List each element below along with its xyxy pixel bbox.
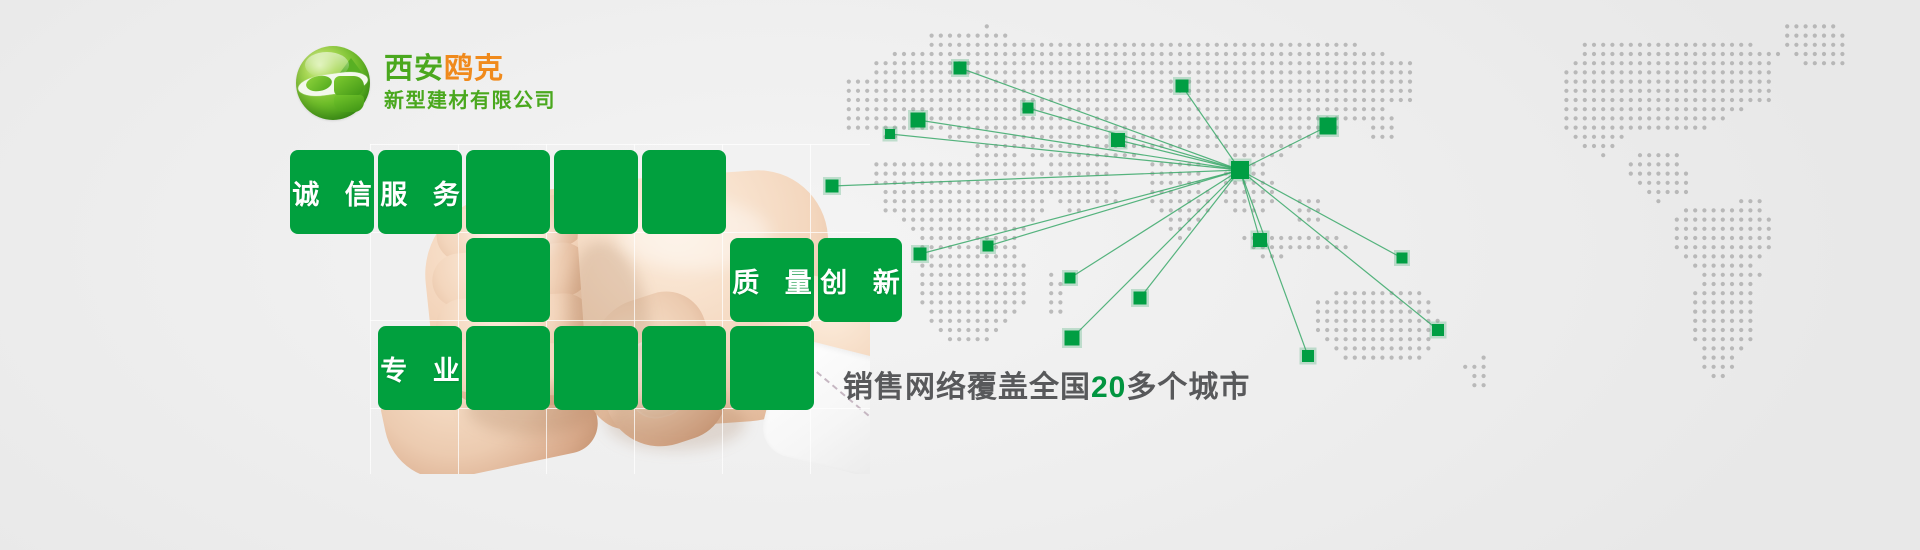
map-dot (1012, 61, 1016, 65)
map-dot (1160, 135, 1164, 139)
map-dot (948, 273, 952, 277)
map-dot (1380, 89, 1384, 93)
map-dot (1721, 300, 1725, 304)
node-square (954, 62, 967, 75)
map-dot (1638, 107, 1642, 111)
map-dot (1638, 172, 1642, 176)
map-dot (1353, 80, 1357, 84)
map-dot (1040, 43, 1044, 47)
map-dot (1215, 126, 1219, 130)
map-dot (1702, 227, 1706, 231)
map-dot (976, 227, 980, 231)
map-dot (1758, 236, 1762, 240)
map-dot (948, 52, 952, 56)
map-dot (1298, 70, 1302, 74)
map-dot (1003, 291, 1007, 295)
logo-text-block: 西安鸥克 新型建材有限公司 (384, 54, 556, 112)
map-dot (1068, 61, 1072, 65)
map-dot (902, 98, 906, 102)
map-dot (1334, 107, 1338, 111)
map-dot (1721, 245, 1725, 249)
map-dot (1270, 245, 1274, 249)
map-dot (1242, 80, 1246, 84)
map-dot (1316, 310, 1320, 314)
company-name-line2: 新型建材有限公司 (384, 90, 556, 112)
map-dot (1629, 98, 1633, 102)
map-dot (1270, 181, 1274, 185)
map-dot (1629, 89, 1633, 93)
map-dot (1767, 80, 1771, 84)
map-dot (1408, 89, 1412, 93)
map-dot (1739, 310, 1743, 314)
map-dot (1160, 70, 1164, 74)
map-dot (1362, 356, 1366, 360)
map-dot (1629, 80, 1633, 84)
map-dot (1656, 126, 1660, 130)
map-dot (1141, 43, 1145, 47)
map-dot (1123, 153, 1127, 157)
map-dot (1031, 43, 1035, 47)
map-dot (1086, 89, 1090, 93)
map-dot (1031, 61, 1035, 65)
map-dot (884, 199, 888, 203)
map-dot (874, 116, 878, 120)
mosaic-tile-blank (466, 238, 550, 322)
map-dot (1178, 52, 1182, 56)
map-dot (1362, 116, 1366, 120)
map-dot (994, 310, 998, 314)
map-dot (884, 116, 888, 120)
map-dot (1196, 52, 1200, 56)
map-dot (1684, 89, 1688, 93)
map-dot (1785, 34, 1789, 38)
map-dot (1068, 70, 1072, 74)
map-dot (1012, 153, 1016, 157)
map-dot (1739, 254, 1743, 258)
map-dot (1610, 70, 1614, 74)
map-dot (1307, 52, 1311, 56)
map-dot (1307, 245, 1311, 249)
map-dot (920, 282, 924, 286)
map-dot (976, 190, 980, 194)
map-dot (1261, 61, 1265, 65)
map-dot (1353, 61, 1357, 65)
map-dot (1160, 208, 1164, 212)
map-dot (1307, 236, 1311, 240)
map-dot (1077, 199, 1081, 203)
map-dot (1150, 61, 1154, 65)
map-dot (1656, 89, 1660, 93)
map-dot (856, 116, 860, 120)
map-dot (976, 319, 980, 323)
map-dot (884, 61, 888, 65)
map-dot (930, 319, 934, 323)
map-dot (1279, 43, 1283, 47)
map-dot (1224, 80, 1228, 84)
map-dot (939, 43, 943, 47)
map-dot (1344, 310, 1348, 314)
map-dot (1794, 24, 1798, 28)
map-dot (930, 273, 934, 277)
map-dot (1123, 61, 1127, 65)
map-dot (1298, 245, 1302, 249)
map-dot (865, 80, 869, 84)
map-dot (874, 126, 878, 130)
map-dot (966, 52, 970, 56)
map-dot (1739, 199, 1743, 203)
map-dot (1058, 126, 1062, 130)
map-dot (1592, 61, 1596, 65)
map-dot (1316, 98, 1320, 102)
map-dot (939, 300, 943, 304)
map-dot (1279, 70, 1283, 74)
map-dot (1592, 107, 1596, 111)
map-dot (1344, 61, 1348, 65)
map-dot (1288, 126, 1292, 130)
map-dot (1721, 328, 1725, 332)
map-dot (1656, 181, 1660, 185)
map-dot (1426, 300, 1430, 304)
map-dot (976, 245, 980, 249)
map-dot (957, 264, 961, 268)
map-dot (1399, 89, 1403, 93)
map-dot (1822, 24, 1826, 28)
map-dot (1178, 135, 1182, 139)
map-dot (1003, 80, 1007, 84)
city-node (1020, 100, 1036, 116)
map-dot (1049, 153, 1053, 157)
map-dot (1104, 162, 1108, 166)
map-dot (1123, 89, 1127, 93)
map-dot (1702, 107, 1706, 111)
map-dot (1399, 319, 1403, 323)
map-dot (1583, 116, 1587, 120)
map-dot (1003, 300, 1007, 304)
map-dot (1012, 199, 1016, 203)
map-dot (1114, 190, 1118, 194)
map-dot (1215, 43, 1219, 47)
map-dot (1399, 337, 1403, 341)
map-dot (1426, 346, 1430, 350)
map-dot (1160, 89, 1164, 93)
map-dot (1702, 245, 1706, 249)
map-dot (948, 282, 952, 286)
map-dot (1132, 80, 1136, 84)
map-dot (994, 162, 998, 166)
map-dot (1647, 52, 1651, 56)
map-dot (1261, 80, 1265, 84)
map-dot (1721, 356, 1725, 360)
map-dot (1012, 264, 1016, 268)
map-dot (1068, 153, 1072, 157)
map-dot (1086, 52, 1090, 56)
map-dot (1647, 126, 1651, 130)
map-dot (1390, 310, 1394, 314)
map-dot (1813, 34, 1817, 38)
map-dot (957, 52, 961, 56)
map-dot (948, 227, 952, 231)
map-dot (1003, 218, 1007, 222)
map-dot (1150, 43, 1154, 47)
map-dot (994, 43, 998, 47)
map-dot (1767, 245, 1771, 249)
map-dot (1178, 236, 1182, 240)
map-dot (985, 273, 989, 277)
map-dot (1095, 70, 1099, 74)
map-dot (1380, 80, 1384, 84)
map-dot (1288, 80, 1292, 84)
map-dot (1739, 80, 1743, 84)
map-dot (930, 70, 934, 74)
map-dot (1196, 126, 1200, 130)
map-dot (1160, 116, 1164, 120)
map-dot (1242, 70, 1246, 74)
map-dot (1049, 135, 1053, 139)
map-dot (985, 52, 989, 56)
map-dot (948, 337, 952, 341)
map-dot (1463, 365, 1467, 369)
map-dot (1012, 190, 1016, 194)
map-dot (1592, 89, 1596, 93)
map-dot (1675, 227, 1679, 231)
map-dot (1758, 89, 1762, 93)
map-dot (1638, 52, 1642, 56)
map-dot (1583, 43, 1587, 47)
map-dot (976, 135, 980, 139)
map-dot (1583, 107, 1587, 111)
map-dot (1417, 291, 1421, 295)
map-dot (1693, 61, 1697, 65)
map-dot (939, 254, 943, 258)
map-dot (1730, 52, 1734, 56)
map-dot (1408, 328, 1412, 332)
map-dot (948, 43, 952, 47)
map-dot (1739, 264, 1743, 268)
map-dot (1344, 300, 1348, 304)
map-dot (1169, 89, 1173, 93)
map-dot (1831, 52, 1835, 56)
map-dot (1647, 153, 1651, 157)
map-dot (902, 172, 906, 176)
map-dot (1178, 61, 1182, 65)
map-dot (1804, 43, 1808, 47)
map-dot (948, 199, 952, 203)
map-dot (1408, 61, 1412, 65)
map-dot (1298, 43, 1302, 47)
map-dot (1252, 126, 1256, 130)
map-dot (1068, 89, 1072, 93)
map-dot (948, 254, 952, 258)
map-dot (1058, 80, 1062, 84)
map-dot (1583, 144, 1587, 148)
map-dot (1684, 227, 1688, 231)
map-dot (1739, 236, 1743, 240)
map-dot (1003, 227, 1007, 231)
map-dot (1748, 245, 1752, 249)
map-dot (1132, 52, 1136, 56)
map-dot (902, 70, 906, 74)
map-dot (1693, 107, 1697, 111)
map-dot (1574, 89, 1578, 93)
map-dot (1196, 135, 1200, 139)
map-dot (1242, 116, 1246, 120)
map-dot (1095, 135, 1099, 139)
map-dot (1279, 144, 1283, 148)
mosaic-tile-blank (466, 326, 550, 410)
map-dot (1353, 300, 1357, 304)
map-dot (1767, 236, 1771, 240)
map-dot (1279, 116, 1283, 120)
map-dot (1371, 70, 1375, 74)
map-dot (1610, 52, 1614, 56)
map-dot (1399, 98, 1403, 102)
map-dot (939, 218, 943, 222)
map-dot (1160, 61, 1164, 65)
map-dot (1012, 310, 1016, 314)
map-dot (1840, 43, 1844, 47)
map-dot (985, 310, 989, 314)
map-dot (1086, 162, 1090, 166)
map-dot (930, 116, 934, 120)
map-dot (994, 208, 998, 212)
map-dot (1574, 107, 1578, 111)
map-dot (1132, 70, 1136, 74)
map-dot (985, 89, 989, 93)
map-dot (902, 199, 906, 203)
map-dot (1758, 273, 1762, 277)
map-dot (1242, 89, 1246, 93)
map-dot (1049, 310, 1053, 314)
map-dot (1086, 80, 1090, 84)
map-dot (874, 98, 878, 102)
map-dot (1647, 190, 1651, 194)
map-dot (1252, 107, 1256, 111)
map-dot (985, 181, 989, 185)
map-dot (1252, 153, 1256, 157)
map-dot (1040, 172, 1044, 176)
company-name-region: 西安 (384, 53, 444, 85)
map-dot (893, 61, 897, 65)
map-dot (1399, 291, 1403, 295)
map-dot (976, 116, 980, 120)
map-dot (948, 89, 952, 93)
map-dot (1123, 107, 1127, 111)
map-dot (1353, 356, 1357, 360)
city-node (1173, 77, 1191, 95)
map-dot (911, 52, 915, 56)
map-dot (976, 337, 980, 341)
map-dot (1601, 43, 1605, 47)
map-dot (1325, 310, 1329, 314)
map-dot (1712, 70, 1716, 74)
map-dot (966, 116, 970, 120)
map-dot (1298, 135, 1302, 139)
map-dot (1712, 273, 1716, 277)
map-dot (985, 34, 989, 38)
map-dot (1058, 107, 1062, 111)
map-dot (1380, 310, 1384, 314)
map-dot (1620, 61, 1624, 65)
map-dot (1022, 273, 1026, 277)
map-dot (1675, 107, 1679, 111)
map-dot (976, 282, 980, 286)
map-dot (1040, 80, 1044, 84)
map-dot (1702, 116, 1706, 120)
map-dot (1702, 254, 1706, 258)
map-dot (1169, 135, 1173, 139)
map-dot (939, 328, 943, 332)
value-tile: 专 业 (378, 326, 462, 410)
map-dot (957, 190, 961, 194)
map-dot (985, 172, 989, 176)
map-dot (994, 34, 998, 38)
map-dot (939, 52, 943, 56)
map-dot (1316, 236, 1320, 240)
map-dot (1123, 70, 1127, 74)
map-dot (930, 61, 934, 65)
map-dot (1003, 264, 1007, 268)
map-dot (1077, 172, 1081, 176)
map-dot (1150, 181, 1154, 185)
map-dot (1638, 70, 1642, 74)
map-dot (985, 70, 989, 74)
map-dot (1417, 319, 1421, 323)
map-dot (1104, 52, 1108, 56)
node-square (1065, 273, 1076, 284)
node-square (1253, 233, 1267, 247)
map-dot (1077, 126, 1081, 130)
map-dot (1316, 218, 1320, 222)
map-dot (1417, 356, 1421, 360)
map-dot (884, 89, 888, 93)
map-dot (1684, 43, 1688, 47)
map-dot (1380, 300, 1384, 304)
map-dot (976, 98, 980, 102)
map-dot (1583, 135, 1587, 139)
map-dot (1574, 135, 1578, 139)
map-dot (1261, 153, 1265, 157)
map-dot (994, 227, 998, 231)
map-dot (994, 319, 998, 323)
map-dot (874, 61, 878, 65)
map-dot (1380, 291, 1384, 295)
map-dot (1215, 61, 1219, 65)
map-dot (1344, 346, 1348, 350)
map-dot (985, 291, 989, 295)
map-dot (1242, 199, 1246, 203)
map-dot (1233, 116, 1237, 120)
map-dot (1748, 61, 1752, 65)
map-dot (1693, 43, 1697, 47)
map-dot (1003, 135, 1007, 139)
map-dot (1353, 328, 1357, 332)
map-dot (1242, 135, 1246, 139)
map-dot (1583, 70, 1587, 74)
map-dot (1390, 89, 1394, 93)
map-dot (957, 208, 961, 212)
map-dot (939, 291, 943, 295)
map-dot (1721, 346, 1725, 350)
map-dot (1739, 43, 1743, 47)
map-dot (939, 34, 943, 38)
company-logo[interactable]: 西安鸥克 新型建材有限公司 (296, 46, 556, 120)
map-dot (1620, 80, 1624, 84)
map-dot (1353, 116, 1357, 120)
map-dot (1840, 61, 1844, 65)
map-dot (1049, 89, 1053, 93)
map-dot (1656, 43, 1660, 47)
map-dot (939, 264, 943, 268)
